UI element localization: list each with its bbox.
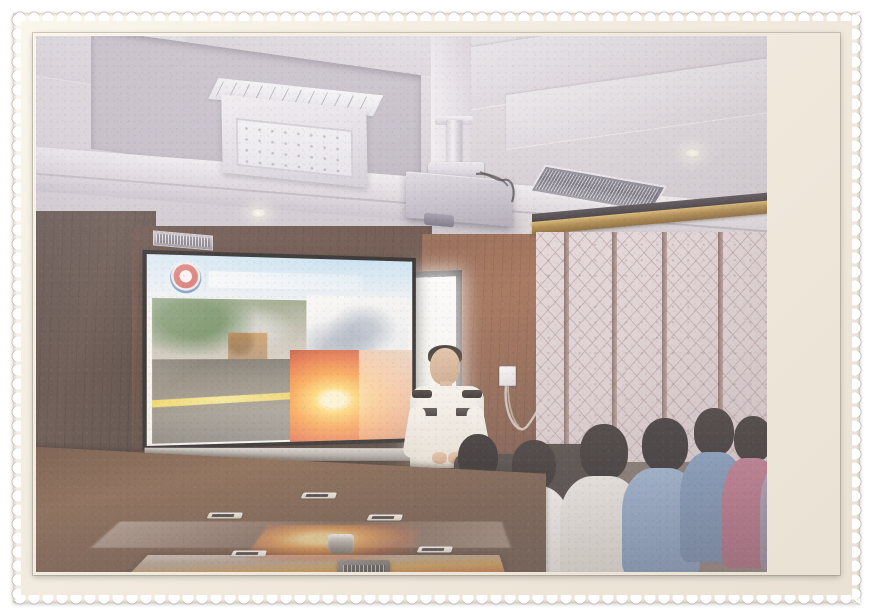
presenter-epaulette bbox=[462, 390, 482, 398]
table-gloss-highlight bbox=[91, 521, 511, 547]
presenter-epaulette bbox=[412, 390, 432, 398]
recessed-downlight bbox=[684, 148, 701, 158]
table-notepad bbox=[231, 551, 267, 557]
ac-cassette-unit bbox=[221, 94, 367, 187]
slide-title-band bbox=[209, 271, 363, 291]
projection-screen bbox=[142, 250, 415, 451]
projection-screen-surface bbox=[147, 254, 412, 446]
table-device bbox=[338, 560, 390, 572]
projector-cables bbox=[474, 170, 520, 210]
table-notepad bbox=[417, 547, 453, 553]
attendee-top bbox=[760, 462, 767, 572]
recessed-downlight bbox=[250, 208, 267, 218]
projector-pole-mount bbox=[447, 120, 462, 166]
photograph bbox=[36, 36, 767, 572]
table-cup bbox=[328, 534, 354, 554]
table-notepad bbox=[301, 493, 337, 499]
slide-photo-fire bbox=[290, 350, 412, 442]
wall-outlet bbox=[499, 366, 516, 386]
attendee-hair bbox=[580, 424, 628, 480]
fire-service-emblem-icon bbox=[170, 262, 201, 294]
slide-photo-street bbox=[152, 359, 306, 444]
table-notepad bbox=[207, 513, 243, 519]
presenter-head bbox=[430, 348, 460, 385]
framed-photo-root bbox=[0, 0, 873, 616]
table-notepad bbox=[367, 515, 403, 521]
attendee-7 bbox=[760, 420, 767, 570]
